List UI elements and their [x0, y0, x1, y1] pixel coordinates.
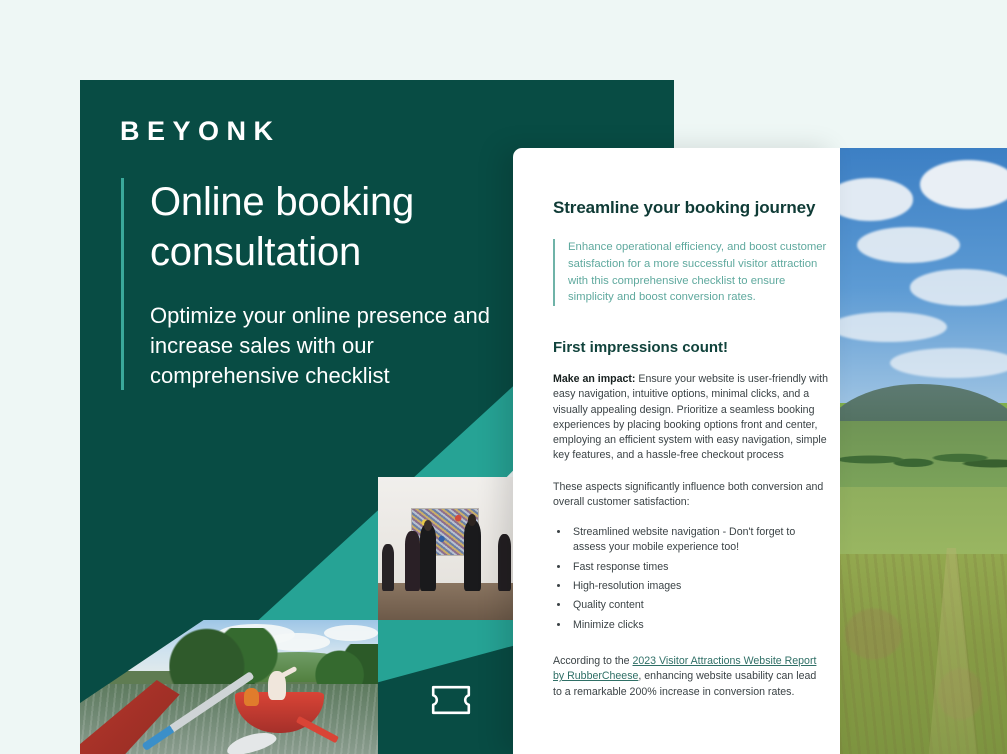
art-gallery-photo	[378, 477, 514, 620]
landscape-foreground-grass	[840, 554, 1007, 754]
hero-copy-block: Online booking consultation Optimize you…	[121, 178, 521, 390]
aspects-intro-paragraph: These aspects significantly influence bo…	[553, 480, 828, 511]
list-item: Fast response times	[570, 560, 828, 575]
list-item: Quality content	[570, 598, 828, 613]
cloud	[910, 269, 1007, 305]
list-item: Minimize clicks	[570, 618, 828, 633]
gallery-visitor	[498, 534, 512, 591]
gallery-visitor	[464, 520, 482, 592]
kayaking-photo	[80, 620, 378, 754]
cloud	[920, 160, 1007, 208]
citation-prefix: According to the	[553, 655, 633, 667]
brand-logo: BEYONK	[120, 118, 281, 145]
list-item: Streamlined website navigation - Don't f…	[570, 525, 828, 556]
gallery-visitor	[405, 531, 420, 591]
gallery-floor	[378, 583, 514, 620]
cloud	[840, 312, 947, 342]
page-title: Online booking consultation	[150, 178, 521, 277]
content-card-body: Streamline your booking journey Enhance …	[553, 196, 828, 700]
cloud	[857, 227, 961, 263]
card-title: Streamline your booking journey	[553, 196, 828, 220]
gallery-visitor	[382, 544, 394, 591]
gallery-visitor-head	[424, 520, 432, 531]
impact-label: Make an impact:	[553, 373, 635, 385]
gallery-visitor	[420, 524, 436, 591]
list-item: High-resolution images	[570, 579, 828, 594]
landscape-midground-trees	[840, 421, 1007, 494]
kayak-paddler	[244, 688, 259, 705]
ticket-icon	[431, 685, 471, 715]
poster-canvas: BEYONK Online booking consultation Optim…	[0, 0, 1007, 754]
section-title-first-impressions: First impressions count!	[553, 339, 828, 356]
content-card: Streamline your booking journey Enhance …	[513, 148, 840, 754]
hero-subtitle: Optimize your online presence and increa…	[150, 301, 521, 390]
impact-body: Ensure your website is user-friendly wit…	[553, 373, 828, 461]
countryside-landscape-photo	[840, 148, 1007, 754]
benefits-bullet-list: Streamlined website navigation - Don't f…	[553, 525, 828, 633]
gallery-visitor-head	[468, 514, 476, 525]
card-quote-callout: Enhance operational efficiency, and boos…	[553, 239, 828, 306]
impact-paragraph: Make an impact: Ensure your website is u…	[553, 372, 828, 464]
source-citation-paragraph: According to the 2023 Visitor Attraction…	[553, 654, 828, 700]
